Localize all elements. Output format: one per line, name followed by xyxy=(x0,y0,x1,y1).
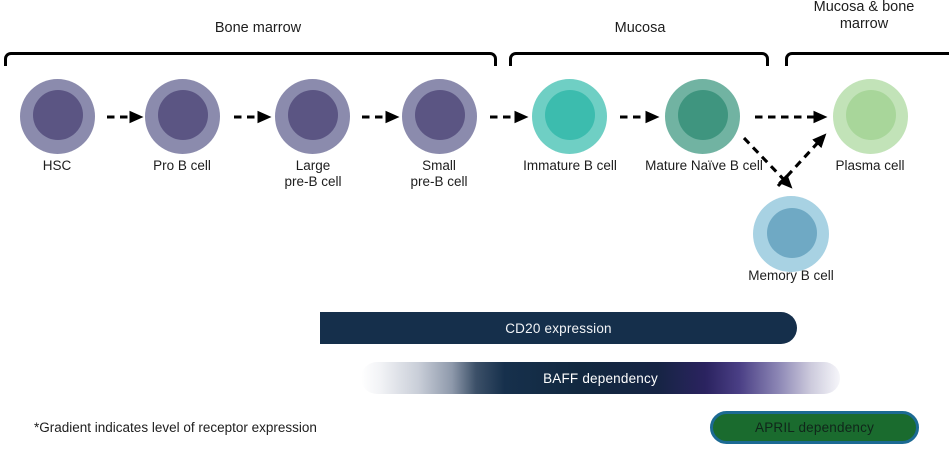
bar-cd20-expression-label: CD20 expression xyxy=(505,321,612,336)
bar-cd20-expression: CD20 expression xyxy=(320,312,797,344)
bar-april-dependency: APRIL dependency xyxy=(710,411,919,444)
arrow-mature-naive-to-memory xyxy=(744,138,790,186)
footnote-text: *Gradient indicates level of receptor ex… xyxy=(34,420,317,435)
bar-baff-dependency-label: BAFF dependency xyxy=(543,371,658,386)
bar-baff-dependency: BAFF dependency xyxy=(361,362,840,394)
bar-april-dependency-label: APRIL dependency xyxy=(755,420,874,435)
b-cell-development-diagram: Bone marrow Mucosa Mucosa & bone marrow … xyxy=(0,0,949,454)
